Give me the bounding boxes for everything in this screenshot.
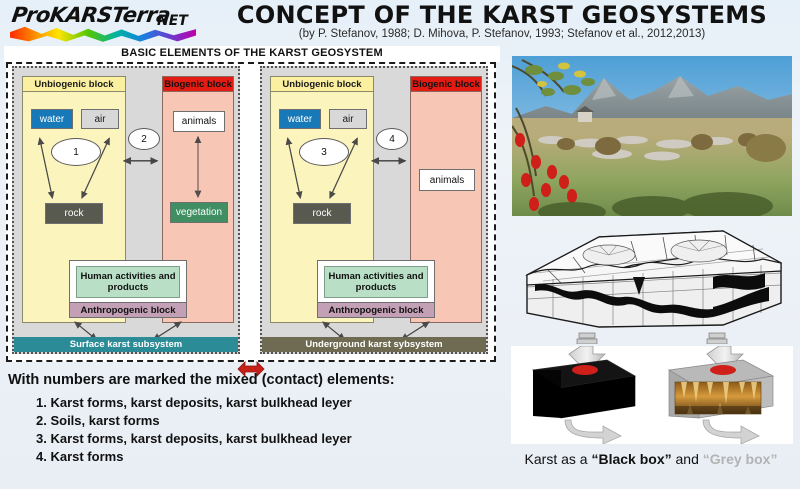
karst-landscape-photo xyxy=(512,56,792,216)
surface-rock-node: rock xyxy=(45,203,103,224)
underground-contact-ellipse-4: 4 xyxy=(376,128,408,150)
underground-air-node: air xyxy=(329,109,367,129)
page-title: CONCEPT OF THE KARST GEOSYSTEMS xyxy=(212,1,792,29)
surface-biogenic-label: Biogenic block xyxy=(163,77,233,92)
surface-contact-ellipse-2: 2 xyxy=(128,128,160,150)
surface-anthropogenic-block: Human activities and products Anthropoge… xyxy=(69,260,187,318)
surface-vegetation-node: vegetation xyxy=(170,202,228,223)
underground-anthropogenic-block: Human activities and products Anthropoge… xyxy=(317,260,435,318)
list-item: 2. Soils, karst forms xyxy=(36,413,488,428)
underground-rock-node: rock xyxy=(293,203,351,224)
diagram-title-strip: BASIC ELEMENTS OF THE KARST GEOSYSTEM xyxy=(4,46,500,62)
black-grey-box-illustration xyxy=(511,346,793,444)
underground-water-node: water xyxy=(279,109,321,129)
karst-block-diagram xyxy=(513,229,791,344)
logo-wordmark: ProKARSTerra xyxy=(10,3,171,27)
underground-biogenic-label: Biogenic block xyxy=(411,77,481,92)
underground-animals-node: animals xyxy=(419,169,475,191)
caption-mid: and xyxy=(672,451,703,467)
surface-contact-ellipse-1: 1 xyxy=(51,138,101,166)
panel-underground-karst-subsystem: Unbiogenic block water air 3 rock Biogen… xyxy=(260,66,488,354)
list-item: 4. Karst forms xyxy=(36,449,488,464)
box-caption: Karst as a “Black box” and “Grey box” xyxy=(505,451,797,467)
slide-root: ProKARSTerra NET CONCEPT OF THE KARST GE… xyxy=(0,0,800,489)
surface-water-node: water xyxy=(31,109,73,129)
notes-section: With numbers are marked the mixed (conta… xyxy=(8,372,488,467)
notes-list: 1. Karst forms, karst deposits, karst bu… xyxy=(36,395,488,464)
list-item: 1. Karst forms, karst deposits, karst bu… xyxy=(36,395,488,410)
list-item: 3. Karst forms, karst deposits, karst bu… xyxy=(36,431,488,446)
page-subtitle: (by P. Stefanov, 1988; D. Mihova, P. Ste… xyxy=(212,28,792,40)
surface-subsystem-bar: Surface karst subsystem xyxy=(14,337,238,352)
surface-human-activities-node: Human activities and products xyxy=(76,266,180,298)
surface-air-node: air xyxy=(81,109,119,129)
prokarsterra-logo: ProKARSTerra NET xyxy=(8,2,208,44)
underground-anthropogenic-label: Anthropogenic block xyxy=(318,302,434,317)
caption-grey-box: “Grey box” xyxy=(703,451,778,467)
caption-black-box: “Black box” xyxy=(591,451,671,467)
diagram-title: BASIC ELEMENTS OF THE KARST GEOSYSTEM xyxy=(4,47,500,59)
karst-diagram: BASIC ELEMENTS OF THE KARST GEOSYSTEM Un… xyxy=(4,46,500,364)
logo-net-suffix: NET xyxy=(157,13,188,29)
underground-unbiogenic-label: Unbiogenic block xyxy=(271,77,373,92)
underground-human-activities-node: Human activities and products xyxy=(324,266,428,298)
panel-surface-karst-subsystem: Unbiogenic block water air 1 rock xyxy=(12,66,240,354)
underground-contact-ellipse-3: 3 xyxy=(299,138,349,166)
underground-subsystem-bar: Underground karst sybsystem xyxy=(262,337,486,352)
surface-animals-node: animals xyxy=(173,111,225,132)
surface-anthropogenic-label: Anthropogenic block xyxy=(70,302,186,317)
header: ProKARSTerra NET CONCEPT OF THE KARST GE… xyxy=(0,0,800,46)
caption-prefix: Karst as a xyxy=(525,451,592,467)
right-column: Karst as a “Black box” and “Grey box” xyxy=(505,46,797,486)
notes-heading: With numbers are marked the mixed (conta… xyxy=(8,372,488,388)
surface-unbiogenic-label: Unbiogenic block xyxy=(23,77,125,92)
